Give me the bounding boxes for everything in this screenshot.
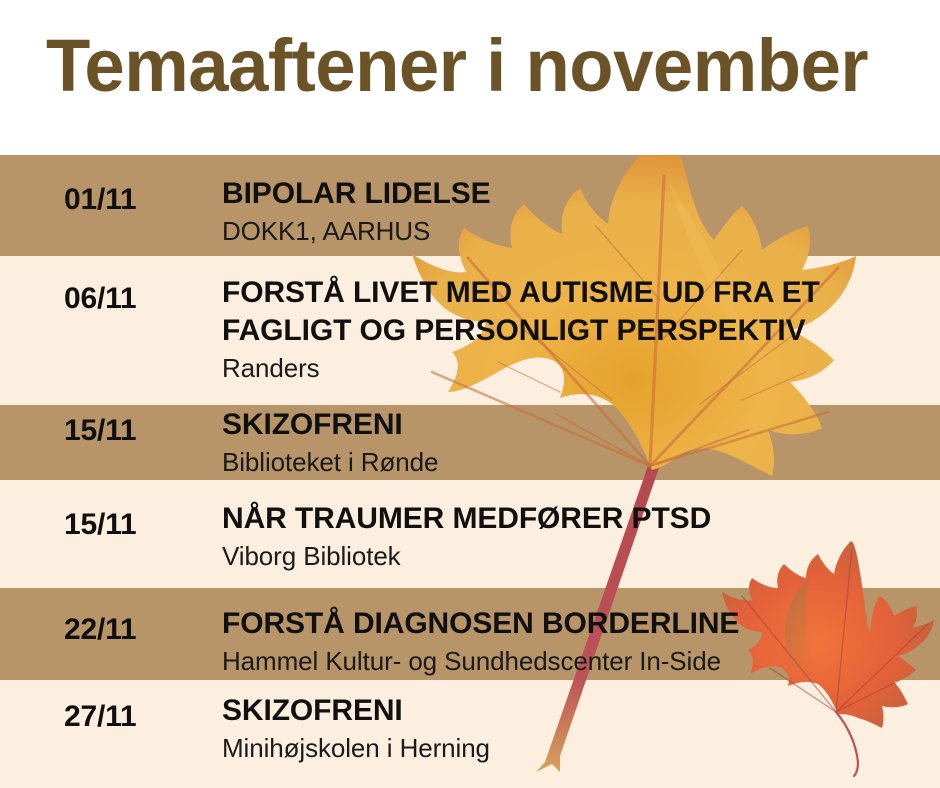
event-body: FORSTÅ LIVET MED AUTISME UD FRA ET FAGLI… [222, 274, 922, 385]
event-date: 06/11 [64, 282, 136, 316]
event-row[interactable]: 01/11BIPOLAR LIDELSEDOKK1, AARHUS [0, 155, 940, 256]
event-location: Hammel Kultur- og Sundhedscenter In-Side [222, 645, 922, 678]
event-row[interactable]: 27/11SKIZOFRENIMinihøjskolen i Herning [0, 680, 940, 788]
event-date: 15/11 [64, 508, 136, 542]
event-title: NÅR TRAUMER MEDFØRER PTSD [222, 500, 922, 538]
event-title: BIPOLAR LIDELSE [222, 175, 922, 213]
event-row[interactable]: 15/11NÅR TRAUMER MEDFØRER PTSDViborg Bib… [0, 480, 940, 588]
event-body: BIPOLAR LIDELSEDOKK1, AARHUS [222, 175, 922, 248]
event-body: NÅR TRAUMER MEDFØRER PTSDViborg Bibliote… [222, 500, 922, 573]
event-body: FORSTÅ DIAGNOSEN BORDERLINEHammel Kultur… [222, 605, 922, 678]
event-location: Biblioteket i Rønde [222, 446, 922, 479]
event-row[interactable]: 15/11SKIZOFRENIBiblioteket i Rønde [0, 405, 940, 480]
event-body: SKIZOFRENIBiblioteket i Rønde [222, 406, 922, 479]
event-title: SKIZOFRENI [222, 406, 922, 444]
header-band: Temaaftener i november [0, 0, 940, 155]
event-row[interactable]: 06/11FORSTÅ LIVET MED AUTISME UD FRA ET … [0, 256, 940, 405]
event-location: DOKK1, AARHUS [222, 215, 922, 248]
event-title: FORSTÅ LIVET MED AUTISME UD FRA ET FAGLI… [222, 274, 922, 350]
event-location: Randers [222, 352, 922, 385]
event-date: 27/11 [64, 700, 136, 734]
event-location: Minihøjskolen i Herning [222, 732, 922, 765]
event-location: Viborg Bibliotek [222, 540, 922, 573]
poster-canvas: Temaaftener i november 01/11BIPOLAR LIDE… [0, 0, 940, 788]
event-date: 01/11 [64, 183, 136, 217]
page-title: Temaaftener i november [46, 26, 868, 106]
event-row[interactable]: 22/11FORSTÅ DIAGNOSEN BORDERLINEHammel K… [0, 588, 940, 680]
event-title: SKIZOFRENI [222, 692, 922, 730]
event-body: SKIZOFRENIMinihøjskolen i Herning [222, 692, 922, 765]
event-title: FORSTÅ DIAGNOSEN BORDERLINE [222, 605, 922, 643]
event-date: 22/11 [64, 613, 136, 647]
event-date: 15/11 [64, 414, 136, 448]
